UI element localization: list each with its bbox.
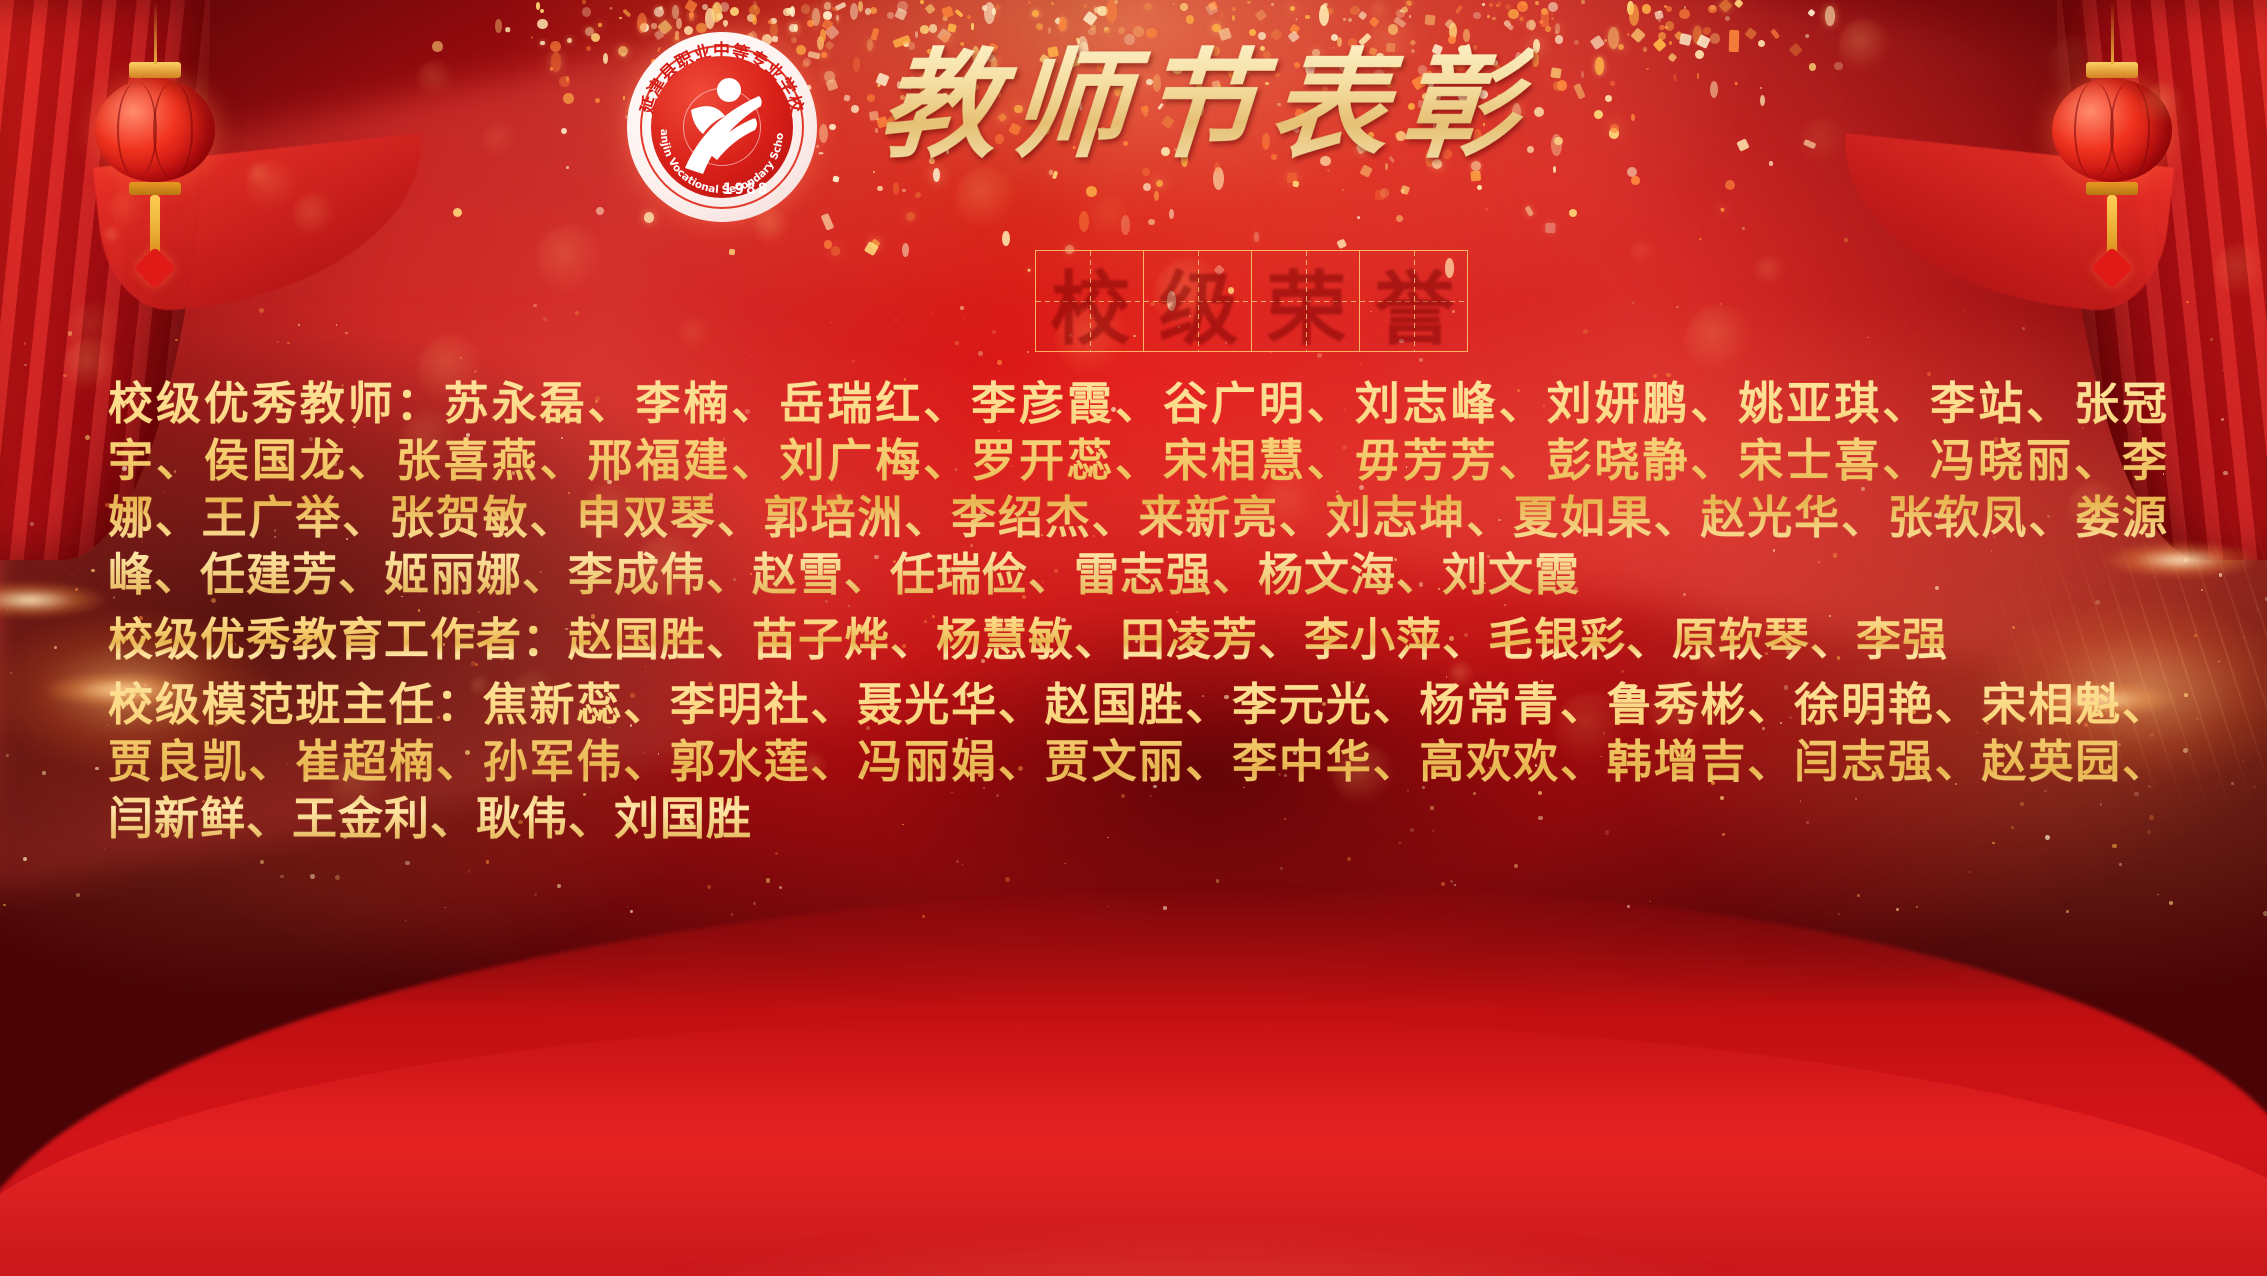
lantern-rim	[2086, 182, 2138, 195]
subtitle-cell: 级	[1144, 250, 1252, 352]
lantern-left-icon	[95, 62, 215, 283]
teachers-day-honor-banner: 延津县职业中等专业学校 1988 Yanjin Vocational Secon…	[0, 0, 2267, 1276]
subtitle-grid: 校 级 荣 誉	[1035, 250, 1468, 352]
svg-text:Yanjin Vocational Secondary Sc: Yanjin Vocational Secondary School	[651, 56, 786, 196]
award-paragraph-excellent-teacher: 校级优秀教师：苏永磊、李楠、岳瑞红、李彦霞、谷广明、刘志峰、刘妍鹏、姚亚琪、李站…	[108, 375, 2168, 603]
subtitle-char: 誉	[1360, 251, 1467, 351]
subtitle-char: 校	[1036, 251, 1143, 351]
subtitle-char: 级	[1144, 251, 1251, 351]
subtitle-char: 荣	[1252, 251, 1359, 351]
subtitle-cell: 誉	[1360, 250, 1468, 352]
award-paragraph-excellent-educator: 校级优秀教育工作者：赵国胜、苗子烨、杨慧敏、田凌芳、李小萍、毛银彩、原软琴、李强	[108, 611, 2168, 668]
page-title-text: 教师节表彰	[875, 30, 1536, 180]
lantern-knot	[2091, 247, 2133, 289]
school-logo: 延津县职业中等专业学校 1988 Yanjin Vocational Secon…	[627, 32, 817, 222]
logo-disc: 1988 Yanjin Vocational Secondary School	[651, 56, 793, 198]
page-title: 教师节表彰	[880, 30, 1700, 180]
lantern-rim	[129, 182, 181, 195]
lantern-knot	[134, 247, 176, 289]
lantern-body	[95, 78, 215, 182]
lantern-right-icon	[2052, 62, 2172, 283]
lantern-cap	[129, 62, 181, 78]
lantern-cord	[154, 2, 157, 64]
bottom-glow	[300, 1096, 2100, 1276]
logo-school-name-en: Yanjin Vocational Secondary School	[651, 56, 793, 198]
lantern-cap	[2086, 62, 2138, 78]
subtitle-cell: 荣	[1252, 250, 1360, 352]
subtitle-cell: 校	[1035, 250, 1144, 352]
award-paragraph-model-class-teacher: 校级模范班主任：焦新蕊、李明社、聂光华、赵国胜、李元光、杨常青、鲁秀彬、徐明艳、…	[108, 676, 2168, 847]
lantern-body	[2052, 78, 2172, 182]
lantern-cord	[2111, 2, 2114, 64]
award-list: 校级优秀教师：苏永磊、李楠、岳瑞红、李彦霞、谷广明、刘志峰、刘妍鹏、姚亚琪、李站…	[108, 375, 2168, 849]
